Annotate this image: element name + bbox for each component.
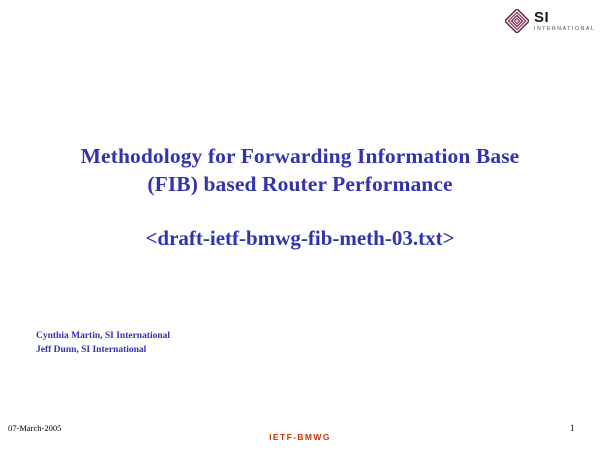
logo-brand-long: INTERNATIONAL: [534, 27, 595, 32]
si-international-wordmark: SI INTERNATIONAL: [534, 10, 595, 32]
footer-group-label: IETF-BMWG: [0, 432, 600, 442]
si-international-logo: SI INTERNATIONAL: [505, 7, 595, 35]
footer-page-number: 1: [570, 423, 592, 433]
slide-subtitle-draft-name: <draft-ietf-bmwg-fib-meth-03.txt>: [0, 225, 600, 251]
slide-title: Methodology for Forwarding Information B…: [0, 142, 600, 198]
slide-canvas: SI INTERNATIONAL Methodology for Forward…: [0, 0, 600, 450]
slide-title-line-2: (FIB) based Router Performance: [0, 170, 600, 198]
slide-title-line-1: Methodology for Forwarding Information B…: [0, 142, 600, 170]
si-international-diamond-logo-icon: [505, 9, 529, 33]
author-list: Cynthia Martin, SI International Jeff Du…: [36, 330, 170, 357]
author-line-2: Jeff Dunn, SI International: [36, 344, 170, 358]
logo-brand-short: SI: [534, 10, 595, 25]
author-line-1: Cynthia Martin, SI International: [36, 330, 170, 344]
